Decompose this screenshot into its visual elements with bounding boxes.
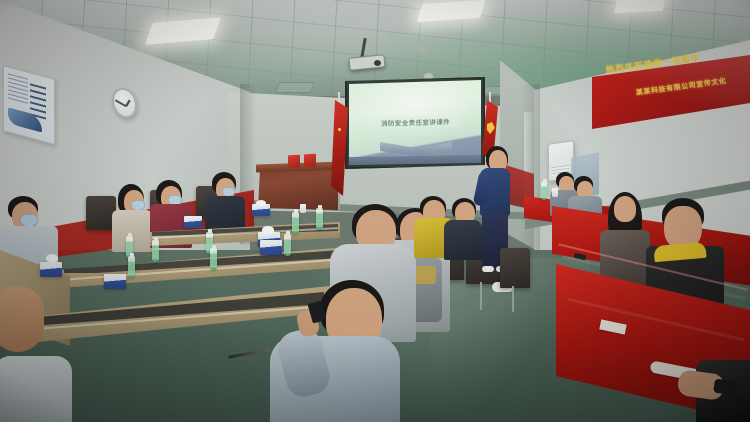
water-bottle [210,248,217,270]
clock-hour-hand [125,99,131,107]
presenter-shoe [482,266,494,272]
tissue-box [40,262,62,277]
tissue-puff [46,254,58,262]
slide-title-text: 消防安全责任宣讲课件 [381,116,450,128]
ceiling-air-vent [275,82,315,93]
water-bottle [152,240,159,262]
wooden-podium [258,166,340,210]
tissue-box [260,240,282,255]
projector-lens-icon [374,60,381,66]
chair-leg [512,286,514,312]
podium-red-item [304,154,316,168]
slide-title-band: 消防安全责任宣讲课件 [373,115,458,129]
wristwatch [713,379,737,396]
slide-open-book-graphic [380,142,452,156]
ceiling-speaker [418,42,425,53]
water-bottle [316,208,323,230]
torso [0,356,72,422]
water-bottle [284,234,291,256]
conference-room-photo: 消防安全责任宣讲课件 热烈庆祝建党一百周年 某某科技有限公司宣传文化 [0,0,750,422]
arm [0,286,44,352]
tissue-puff [256,200,266,206]
water-bottle [128,256,135,278]
tissue-box [184,216,202,228]
chair [500,248,530,288]
poster-text-block [8,73,28,104]
podium-red-item [288,155,300,169]
paper-cup [552,188,558,197]
tissue-puff [262,226,274,234]
torso [444,220,482,260]
informational-wall-poster [3,65,55,145]
water-bottle [292,212,299,234]
water-bottle [541,182,547,200]
clock-minute-hand [115,100,126,107]
chair-leg [480,282,482,310]
projection-screen-glow [349,80,481,142]
tissue-box [104,274,126,289]
paper-cup [300,204,306,213]
head [614,196,636,222]
flag-star-icon [338,128,341,131]
